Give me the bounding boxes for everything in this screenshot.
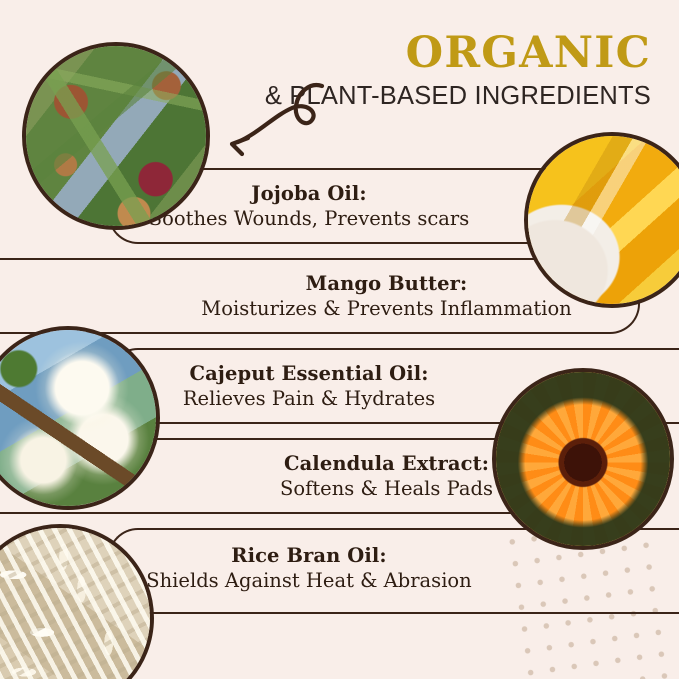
ingredients-infographic: Organic & Plant-Based Ingredients Jojoba…: [0, 0, 679, 679]
jojoba-plant-photo: [22, 42, 210, 230]
mango-butter-image: [528, 136, 679, 304]
ingredient-description: Relieves Pain & Hydrates: [110, 387, 508, 410]
rice-grains-photo: [0, 524, 154, 679]
cajeput-flower-photo: [0, 326, 160, 510]
ingredient-description: Shields Against Heat & Abrasion: [110, 569, 508, 592]
calendula-flower-image: [496, 372, 670, 546]
jojoba-plant-image: [26, 46, 206, 226]
calendula-flower-photo: [492, 368, 674, 550]
rice-grains-image: [0, 528, 150, 679]
ingredient-title: Cajeput Essential Oil:: [110, 362, 508, 385]
mango-butter-photo: [524, 132, 679, 308]
cajeput-flower-image: [0, 330, 156, 506]
ingredient-title: Rice Bran Oil:: [110, 544, 508, 567]
